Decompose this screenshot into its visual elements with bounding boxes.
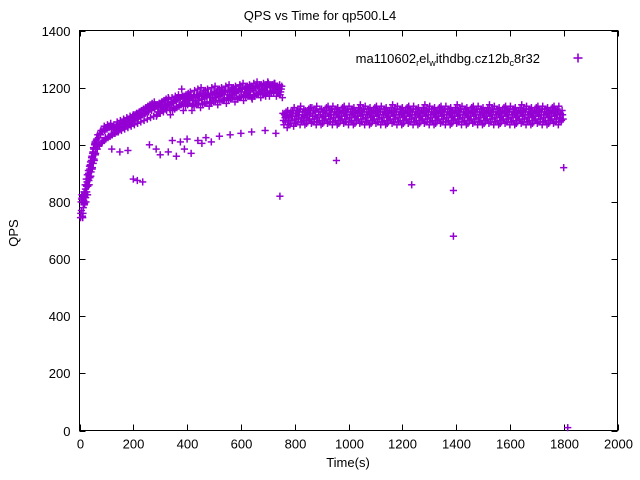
y-tick-label: 1400 bbox=[42, 24, 71, 39]
legend-marker-plus bbox=[574, 54, 583, 63]
data-point-marker bbox=[134, 177, 141, 184]
legend: ma110602relwithdbg.cz12bc8r32 bbox=[356, 51, 583, 68]
x-tick-label: 1200 bbox=[388, 437, 417, 452]
data-point-marker bbox=[450, 233, 457, 240]
data-point-marker bbox=[139, 178, 146, 185]
scatter-markers bbox=[77, 78, 571, 431]
y-tick-label: 400 bbox=[49, 309, 71, 324]
y-tick-label: 0 bbox=[63, 424, 70, 439]
legend-series-label: ma110602relwithdbg.cz12bc8r32 bbox=[356, 51, 540, 68]
x-tick-label: 1600 bbox=[496, 437, 525, 452]
data-point-marker bbox=[188, 150, 195, 157]
data-point-marker bbox=[153, 145, 160, 152]
qps-scatter-plot: 0200400600800100012001400 02004006008001… bbox=[0, 0, 640, 480]
x-axis-label: Time(s) bbox=[326, 455, 370, 470]
x-tick-label: 1800 bbox=[550, 437, 579, 452]
y-tick-label: 600 bbox=[49, 252, 71, 267]
data-point-marker bbox=[124, 147, 131, 154]
x-tick-label: 200 bbox=[123, 437, 145, 452]
data-point-marker bbox=[276, 193, 283, 200]
data-point-marker bbox=[181, 145, 188, 152]
y-tick-label: 1000 bbox=[42, 138, 71, 153]
data-point-marker bbox=[262, 127, 269, 134]
x-tick-label: 0 bbox=[77, 437, 84, 452]
x-tick-label: 2000 bbox=[604, 437, 633, 452]
data-point-marker bbox=[173, 153, 180, 160]
data-point-marker bbox=[333, 157, 340, 164]
data-point-marker bbox=[184, 135, 191, 142]
data-point-marker bbox=[169, 137, 176, 144]
plot-border bbox=[80, 31, 618, 431]
data-point-marker bbox=[272, 130, 279, 137]
data-point-marker bbox=[177, 138, 184, 145]
x-tick-label: 400 bbox=[177, 437, 199, 452]
y-tick-label: 800 bbox=[49, 195, 71, 210]
y-tick-label: 1200 bbox=[42, 81, 71, 96]
y-axis-label: QPS bbox=[6, 219, 21, 247]
data-point-marker bbox=[146, 141, 153, 148]
data-point-marker bbox=[130, 175, 137, 182]
data-point-marker bbox=[157, 151, 164, 158]
data-point-marker bbox=[248, 128, 255, 135]
data-point-marker bbox=[208, 138, 215, 145]
data-point-marker bbox=[116, 148, 123, 155]
x-tick-label: 800 bbox=[285, 437, 307, 452]
x-tick-label: 1000 bbox=[335, 437, 364, 452]
data-point-marker bbox=[202, 134, 209, 141]
data-point-marker bbox=[227, 131, 234, 138]
y-tick-label: 200 bbox=[49, 366, 71, 381]
x-tick-label: 1400 bbox=[442, 437, 471, 452]
x-axis-ticks: 0200400600800100012001400160018002000 bbox=[77, 31, 633, 452]
data-point-marker bbox=[450, 187, 457, 194]
y-axis-ticks: 0200400600800100012001400 bbox=[42, 24, 618, 439]
data-point-marker bbox=[237, 130, 244, 137]
data-point-marker bbox=[165, 148, 172, 155]
data-point-marker bbox=[560, 164, 567, 171]
chart-screenshot: QPS vs Time for qp500.L4 020040060080010… bbox=[0, 0, 640, 480]
x-tick-label: 600 bbox=[231, 437, 253, 452]
data-point-marker bbox=[408, 181, 415, 188]
data-point-marker bbox=[108, 145, 115, 152]
data-point-marker bbox=[216, 133, 223, 140]
